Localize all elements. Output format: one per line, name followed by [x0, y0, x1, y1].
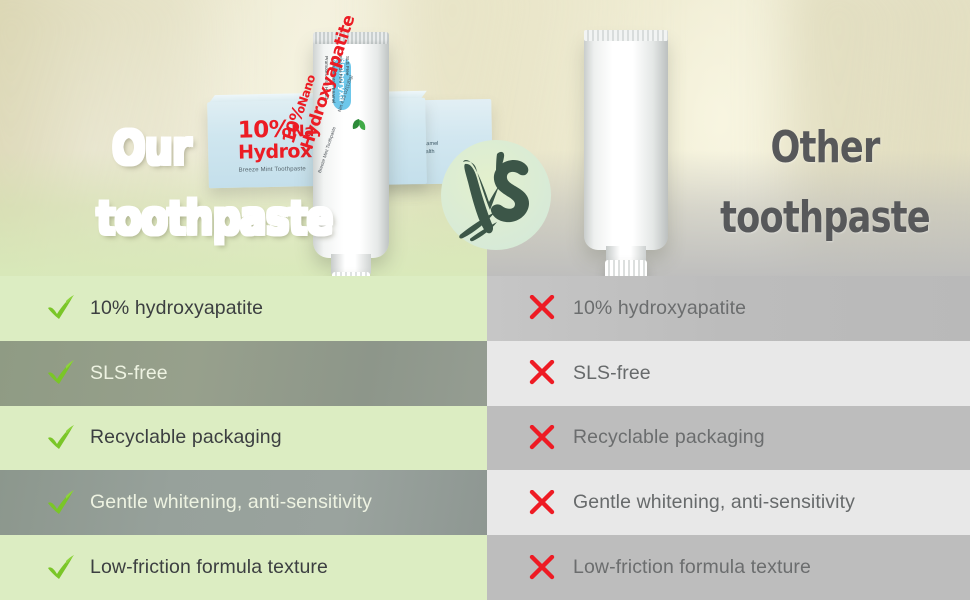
- check-mark-icon: [46, 360, 80, 386]
- check-mark-icon: [46, 555, 80, 581]
- feature-label: Gentle whitening, anti-sensitivity: [573, 491, 855, 514]
- table-row: Recyclable packaging Recyclable packagin…: [0, 406, 970, 471]
- row-1-ours-cell: SLS-free: [0, 341, 487, 406]
- other-heading-line1: Other: [770, 122, 879, 173]
- feature-label: Recyclable packaging: [573, 426, 765, 449]
- feature-label: Recyclable packaging: [90, 426, 282, 449]
- cross-mark-icon: [529, 425, 563, 451]
- row-2-theirs-cell: Recyclable packaging: [487, 406, 970, 471]
- other-toothpaste-tube: [578, 28, 674, 290]
- other-tube-crimp-seal: [584, 30, 668, 41]
- cross-mark-icon: [529, 555, 563, 581]
- row-3-theirs-cell: Gentle whitening, anti-sensitivity: [487, 470, 970, 535]
- feature-label: SLS-free: [573, 362, 651, 385]
- table-row: Gentle whitening, anti-sensitivity Gentl…: [0, 470, 970, 535]
- row-0-theirs-cell: 10% hydroxyapatite: [487, 276, 970, 341]
- cross-mark-icon: [529, 490, 563, 516]
- check-mark-icon: [46, 425, 80, 451]
- our-toothpaste-heading: Our toothpaste: [112, 124, 370, 242]
- row-3-ours-cell: Gentle whitening, anti-sensitivity: [0, 470, 487, 535]
- row-2-ours-cell: Recyclable packaging: [0, 406, 487, 471]
- table-row: Low-friction formula texture Low-frictio…: [0, 535, 970, 600]
- table-row: SLS-free SLS-free: [0, 341, 970, 406]
- feature-label: Low-friction formula texture: [573, 556, 811, 579]
- feature-label: 10% hydroxyapatite: [90, 297, 263, 320]
- check-mark-icon: [46, 295, 80, 321]
- row-4-ours-cell: Low-friction formula texture: [0, 535, 487, 600]
- cross-mark-icon: [529, 360, 563, 386]
- feature-label: 10% hydroxyapatite: [573, 297, 746, 320]
- other-toothpaste-heading: Other toothpaste: [709, 124, 941, 242]
- check-mark-icon: [46, 490, 80, 516]
- table-row: 10% hydroxyapatite 10% hydroxyapatite: [0, 276, 970, 341]
- feature-comparison-table: 10% hydroxyapatite 10% hydroxyapatite SL…: [0, 276, 970, 600]
- cross-mark-icon: [529, 295, 563, 321]
- our-heading-line1: Our: [112, 121, 191, 175]
- feature-label: SLS-free: [90, 362, 168, 385]
- row-1-theirs-cell: SLS-free: [487, 341, 970, 406]
- other-tube-body: [584, 34, 668, 250]
- our-heading-line2: toothpaste: [97, 194, 370, 242]
- feature-label: Gentle whitening, anti-sensitivity: [90, 491, 372, 514]
- other-heading-line2: toothpaste: [709, 194, 941, 242]
- feature-label: Low-friction formula texture: [90, 556, 328, 579]
- vs-brush-icon: [449, 146, 543, 244]
- vs-badge: [441, 140, 551, 250]
- row-4-theirs-cell: Low-friction formula texture: [487, 535, 970, 600]
- row-0-ours-cell: 10% hydroxyapatite: [0, 276, 487, 341]
- comparison-infographic: boryxa Free oride Free ps Maintain Ename…: [0, 0, 970, 600]
